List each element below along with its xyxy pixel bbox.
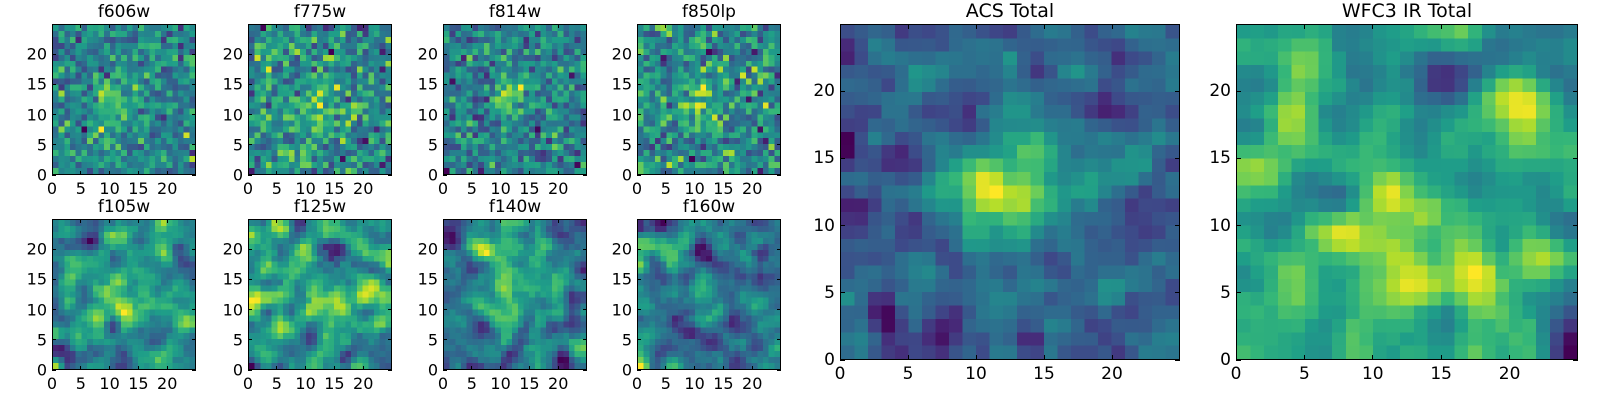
x-tick-top-f160w-2	[694, 219, 695, 223]
y-tick-f125w-3	[248, 279, 252, 280]
y-tick-right-wfc3_ir_total-3	[1573, 158, 1578, 159]
y-ticklabel-f606w-4: 20	[0, 45, 47, 64]
y-ticklabel-f850lp-0: 0	[572, 166, 632, 185]
y-tick-f850lp-4	[637, 54, 641, 55]
x-tick-f814w-4	[558, 171, 559, 175]
y-tick-f140w-1	[443, 339, 447, 340]
x-tick-top-f140w-4	[558, 219, 559, 223]
panel-f105w: f105w0510152005101520	[52, 219, 196, 370]
x-tick-f606w-3	[138, 171, 139, 175]
x-tick-f606w-2	[109, 171, 110, 175]
panel-f125w: f125w0510152005101520	[248, 219, 392, 370]
y-tick-f814w-2	[443, 114, 447, 115]
y-tick-f606w-0	[52, 175, 56, 176]
x-tick-top-f160w-0	[637, 219, 638, 223]
y-ticklabel-f105w-4: 20	[0, 240, 47, 259]
x-tick-f814w-2	[500, 171, 501, 175]
y-tick-acs_total-4	[840, 91, 845, 92]
x-tick-top-f775w-3	[334, 24, 335, 28]
x-tick-top-f140w-3	[529, 219, 530, 223]
panel-wfc3_ir_total: WFC3 IR Total0510152005101520	[1236, 24, 1578, 360]
x-tick-f606w-4	[167, 171, 168, 175]
x-ticklabel-f606w-0: 0	[47, 179, 57, 198]
x-tick-f105w-1	[80, 366, 81, 370]
x-tick-top-f775w-1	[276, 24, 277, 28]
y-ticklabel-wfc3_ir_total-3: 15	[1171, 148, 1231, 168]
y-ticklabel-f160w-1: 5	[572, 330, 632, 349]
y-ticklabel-f606w-2: 10	[0, 105, 47, 124]
x-ticklabel-f105w-0: 0	[47, 374, 57, 393]
y-tick-right-f160w-2	[777, 309, 781, 310]
x-ticklabel-f850lp-3: 15	[713, 179, 733, 198]
y-tick-f606w-4	[52, 54, 56, 55]
figure-canvas: f606w0510152005101520f775w05101520051015…	[0, 0, 1600, 400]
x-ticklabel-wfc3_ir_total-2: 10	[1362, 364, 1384, 384]
y-tick-right-f160w-3	[777, 279, 781, 280]
x-ticklabel-f775w-1: 5	[272, 179, 282, 198]
y-tick-f140w-0	[443, 370, 447, 371]
heatmap-image-f814w	[443, 24, 587, 175]
heatmap-canvas-acs_total	[841, 25, 1179, 359]
x-tick-wfc3_ir_total-2	[1372, 355, 1373, 360]
panel-title-f775w: f775w	[248, 2, 392, 22]
x-tick-f140w-2	[500, 366, 501, 370]
x-ticklabel-acs_total-2: 10	[965, 364, 987, 384]
x-ticklabel-wfc3_ir_total-0: 0	[1231, 364, 1242, 384]
x-tick-f140w-3	[529, 366, 530, 370]
y-ticklabel-f814w-2: 10	[378, 105, 438, 124]
heatmap-canvas-f125w	[249, 220, 391, 369]
heatmap-canvas-f160w	[638, 220, 780, 369]
y-ticklabel-f850lp-4: 20	[572, 45, 632, 64]
x-tick-f125w-3	[334, 366, 335, 370]
y-ticklabel-f606w-1: 5	[0, 135, 47, 154]
x-ticklabel-f160w-1: 5	[661, 374, 671, 393]
y-ticklabel-acs_total-0: 0	[775, 350, 835, 370]
x-tick-f140w-4	[558, 366, 559, 370]
x-tick-top-f606w-4	[167, 24, 168, 28]
heatmap-image-f606w	[52, 24, 196, 175]
x-tick-f160w-3	[723, 366, 724, 370]
x-tick-top-f814w-4	[558, 24, 559, 28]
x-tick-top-f140w-0	[443, 219, 444, 223]
y-tick-f160w-4	[637, 249, 641, 250]
x-tick-top-f160w-3	[723, 219, 724, 223]
y-tick-f606w-3	[52, 84, 56, 85]
y-ticklabel-f105w-0: 0	[0, 361, 47, 380]
y-ticklabel-f140w-1: 5	[378, 330, 438, 349]
x-ticklabel-f140w-2: 10	[490, 374, 510, 393]
x-tick-acs_total-1	[908, 355, 909, 360]
y-tick-right-wfc3_ir_total-0	[1573, 360, 1578, 361]
x-ticklabel-f775w-2: 10	[295, 179, 315, 198]
panel-title-f105w: f105w	[52, 197, 196, 217]
y-ticklabel-f105w-3: 15	[0, 270, 47, 289]
panel-title-f140w: f140w	[443, 197, 587, 217]
y-tick-f125w-2	[248, 309, 252, 310]
y-tick-f775w-0	[248, 175, 252, 176]
y-tick-f160w-2	[637, 309, 641, 310]
y-ticklabel-f140w-3: 15	[378, 270, 438, 289]
panel-title-f850lp: f850lp	[637, 2, 781, 22]
x-tick-f105w-2	[109, 366, 110, 370]
x-ticklabel-f814w-0: 0	[438, 179, 448, 198]
x-tick-top-f105w-0	[52, 219, 53, 223]
y-tick-right-f160w-4	[777, 249, 781, 250]
x-ticklabel-f606w-4: 20	[157, 179, 177, 198]
y-tick-right-wfc3_ir_total-1	[1573, 292, 1578, 293]
y-tick-f814w-1	[443, 144, 447, 145]
y-ticklabel-wfc3_ir_total-4: 20	[1171, 81, 1231, 101]
x-ticklabel-f125w-3: 15	[324, 374, 344, 393]
x-ticklabel-f160w-3: 15	[713, 374, 733, 393]
y-tick-f775w-2	[248, 114, 252, 115]
heatmap-canvas-wfc3_ir_total	[1237, 25, 1577, 359]
x-tick-f606w-1	[80, 171, 81, 175]
heatmap-image-f160w	[637, 219, 781, 370]
y-ticklabel-f814w-4: 20	[378, 45, 438, 64]
x-tick-f775w-1	[276, 171, 277, 175]
x-tick-top-f775w-0	[248, 24, 249, 28]
y-tick-right-f850lp-2	[777, 114, 781, 115]
x-ticklabel-wfc3_ir_total-4: 20	[1499, 364, 1521, 384]
y-tick-f105w-4	[52, 249, 56, 250]
x-tick-top-f814w-0	[443, 24, 444, 28]
x-ticklabel-acs_total-0: 0	[835, 364, 846, 384]
y-ticklabel-f775w-1: 5	[183, 135, 243, 154]
y-ticklabel-f775w-0: 0	[183, 166, 243, 185]
x-ticklabel-f125w-2: 10	[295, 374, 315, 393]
panel-title-acs_total: ACS Total	[840, 0, 1180, 22]
panel-f814w: f814w0510152005101520	[443, 24, 587, 175]
x-ticklabel-f814w-3: 15	[519, 179, 539, 198]
x-tick-top-f105w-3	[138, 219, 139, 223]
x-ticklabel-f105w-4: 20	[157, 374, 177, 393]
x-tick-f140w-1	[471, 366, 472, 370]
x-tick-top-f814w-1	[471, 24, 472, 28]
x-ticklabel-f125w-1: 5	[272, 374, 282, 393]
x-ticklabel-f814w-4: 20	[548, 179, 568, 198]
x-ticklabel-wfc3_ir_total-1: 5	[1299, 364, 1310, 384]
x-tick-top-f814w-2	[500, 24, 501, 28]
y-ticklabel-acs_total-3: 15	[775, 148, 835, 168]
x-ticklabel-f105w-2: 10	[99, 374, 119, 393]
x-ticklabel-f160w-2: 10	[684, 374, 704, 393]
x-tick-top-acs_total-4	[1112, 24, 1113, 29]
heatmap-image-acs_total	[840, 24, 1180, 360]
heatmap-image-wfc3_ir_total	[1236, 24, 1578, 360]
y-ticklabel-wfc3_ir_total-0: 0	[1171, 350, 1231, 370]
panel-f775w: f775w0510152005101520	[248, 24, 392, 175]
x-tick-f160w-2	[694, 366, 695, 370]
x-ticklabel-f140w-1: 5	[467, 374, 477, 393]
x-tick-top-acs_total-3	[1044, 24, 1045, 29]
x-tick-f775w-3	[334, 171, 335, 175]
y-tick-right-wfc3_ir_total-4	[1573, 91, 1578, 92]
y-tick-f125w-4	[248, 249, 252, 250]
x-tick-wfc3_ir_total-1	[1304, 355, 1305, 360]
x-tick-top-acs_total-2	[976, 24, 977, 29]
y-ticklabel-f125w-0: 0	[183, 361, 243, 380]
x-tick-f775w-2	[305, 171, 306, 175]
y-ticklabel-f775w-4: 20	[183, 45, 243, 64]
x-tick-top-f125w-0	[248, 219, 249, 223]
y-ticklabel-f850lp-1: 5	[572, 135, 632, 154]
x-ticklabel-f775w-3: 15	[324, 179, 344, 198]
heatmap-canvas-f140w	[444, 220, 586, 369]
x-ticklabel-acs_total-1: 5	[903, 364, 914, 384]
heatmap-canvas-f105w	[53, 220, 195, 369]
x-tick-top-f850lp-4	[752, 24, 753, 28]
x-tick-top-f850lp-3	[723, 24, 724, 28]
x-tick-f814w-3	[529, 171, 530, 175]
y-ticklabel-acs_total-4: 20	[775, 81, 835, 101]
x-tick-top-f814w-3	[529, 24, 530, 28]
x-ticklabel-f160w-0: 0	[632, 374, 642, 393]
y-tick-f105w-1	[52, 339, 56, 340]
x-tick-f850lp-4	[752, 171, 753, 175]
x-tick-top-f125w-4	[363, 219, 364, 223]
y-tick-f125w-1	[248, 339, 252, 340]
y-tick-f814w-0	[443, 175, 447, 176]
x-ticklabel-acs_total-4: 20	[1101, 364, 1123, 384]
heatmap-canvas-f606w	[53, 25, 195, 174]
y-ticklabel-f160w-3: 15	[572, 270, 632, 289]
y-tick-f814w-3	[443, 84, 447, 85]
y-tick-f105w-2	[52, 309, 56, 310]
y-ticklabel-f814w-0: 0	[378, 166, 438, 185]
y-tick-acs_total-3	[840, 158, 845, 159]
x-ticklabel-f105w-1: 5	[76, 374, 86, 393]
x-tick-top-wfc3_ir_total-3	[1441, 24, 1442, 29]
panel-title-f606w: f606w	[52, 2, 196, 22]
y-tick-f850lp-3	[637, 84, 641, 85]
x-ticklabel-f125w-0: 0	[243, 374, 253, 393]
x-tick-top-wfc3_ir_total-0	[1236, 24, 1237, 29]
y-ticklabel-f814w-1: 5	[378, 135, 438, 154]
y-tick-acs_total-2	[840, 225, 845, 226]
y-tick-f775w-3	[248, 84, 252, 85]
panel-f140w: f140w0510152005101520	[443, 219, 587, 370]
x-ticklabel-f140w-3: 15	[519, 374, 539, 393]
x-tick-f850lp-1	[665, 171, 666, 175]
y-ticklabel-f775w-3: 15	[183, 75, 243, 94]
y-ticklabel-wfc3_ir_total-1: 5	[1171, 283, 1231, 303]
y-ticklabel-f125w-2: 10	[183, 300, 243, 319]
heatmap-image-f105w	[52, 219, 196, 370]
y-tick-f606w-1	[52, 144, 56, 145]
x-tick-top-wfc3_ir_total-4	[1509, 24, 1510, 29]
y-tick-f775w-4	[248, 54, 252, 55]
x-tick-top-f105w-1	[80, 219, 81, 223]
y-tick-f105w-0	[52, 370, 56, 371]
x-ticklabel-f850lp-1: 5	[661, 179, 671, 198]
y-ticklabel-f140w-0: 0	[378, 361, 438, 380]
heatmap-image-f125w	[248, 219, 392, 370]
y-tick-acs_total-0	[840, 360, 845, 361]
y-ticklabel-f140w-2: 10	[378, 300, 438, 319]
y-ticklabel-f850lp-3: 15	[572, 75, 632, 94]
x-ticklabel-f606w-1: 5	[76, 179, 86, 198]
x-tick-f125w-1	[276, 366, 277, 370]
x-tick-top-f606w-3	[138, 24, 139, 28]
y-ticklabel-f775w-2: 10	[183, 105, 243, 124]
y-tick-right-f850lp-0	[777, 175, 781, 176]
y-ticklabel-f606w-3: 15	[0, 75, 47, 94]
x-ticklabel-f125w-4: 20	[353, 374, 373, 393]
y-tick-f850lp-0	[637, 175, 641, 176]
x-ticklabel-f775w-0: 0	[243, 179, 253, 198]
panel-title-f160w: f160w	[637, 197, 781, 217]
x-tick-top-f140w-1	[471, 219, 472, 223]
x-tick-top-wfc3_ir_total-1	[1304, 24, 1305, 29]
y-ticklabel-f850lp-2: 10	[572, 105, 632, 124]
x-ticklabel-f105w-3: 15	[128, 374, 148, 393]
x-tick-acs_total-4	[1112, 355, 1113, 360]
x-tick-top-acs_total-1	[908, 24, 909, 29]
panel-acs_total: ACS Total0510152005101520	[840, 24, 1180, 360]
x-tick-wfc3_ir_total-4	[1509, 355, 1510, 360]
y-ticklabel-acs_total-1: 5	[775, 283, 835, 303]
y-tick-right-wfc3_ir_total-2	[1573, 225, 1578, 226]
y-ticklabel-f814w-3: 15	[378, 75, 438, 94]
x-tick-top-f125w-2	[305, 219, 306, 223]
x-tick-top-acs_total-0	[840, 24, 841, 29]
x-ticklabel-f140w-0: 0	[438, 374, 448, 393]
heatmap-canvas-f814w	[444, 25, 586, 174]
y-tick-wfc3_ir_total-4	[1236, 91, 1241, 92]
heatmap-image-f775w	[248, 24, 392, 175]
x-tick-top-f850lp-2	[694, 24, 695, 28]
y-tick-f140w-4	[443, 249, 447, 250]
heatmap-image-f850lp	[637, 24, 781, 175]
x-tick-top-f125w-3	[334, 219, 335, 223]
y-ticklabel-acs_total-2: 10	[775, 216, 835, 236]
x-tick-f125w-2	[305, 366, 306, 370]
y-tick-f140w-3	[443, 279, 447, 280]
x-ticklabel-f814w-2: 10	[490, 179, 510, 198]
y-tick-right-f160w-1	[777, 339, 781, 340]
y-ticklabel-f125w-1: 5	[183, 330, 243, 349]
heatmap-image-f140w	[443, 219, 587, 370]
x-tick-top-wfc3_ir_total-2	[1372, 24, 1373, 29]
y-tick-f850lp-1	[637, 144, 641, 145]
x-tick-f775w-4	[363, 171, 364, 175]
panel-title-wfc3_ir_total: WFC3 IR Total	[1236, 0, 1578, 22]
y-tick-wfc3_ir_total-0	[1236, 360, 1241, 361]
panel-f850lp: f850lp0510152005101520	[637, 24, 781, 175]
x-ticklabel-f140w-4: 20	[548, 374, 568, 393]
heatmap-canvas-f850lp	[638, 25, 780, 174]
x-ticklabel-f850lp-0: 0	[632, 179, 642, 198]
y-tick-wfc3_ir_total-3	[1236, 158, 1241, 159]
y-tick-f850lp-2	[637, 114, 641, 115]
y-tick-wfc3_ir_total-1	[1236, 292, 1241, 293]
y-ticklabel-f160w-2: 10	[572, 300, 632, 319]
heatmap-canvas-f775w	[249, 25, 391, 174]
y-tick-f125w-0	[248, 370, 252, 371]
y-tick-f160w-0	[637, 370, 641, 371]
x-tick-f125w-4	[363, 366, 364, 370]
x-tick-top-f850lp-1	[665, 24, 666, 28]
x-tick-f105w-3	[138, 366, 139, 370]
y-ticklabel-wfc3_ir_total-2: 10	[1171, 216, 1231, 236]
y-ticklabel-f140w-4: 20	[378, 240, 438, 259]
x-tick-top-f606w-1	[80, 24, 81, 28]
x-ticklabel-wfc3_ir_total-3: 15	[1430, 364, 1452, 384]
panel-f160w: f160w0510152005101520	[637, 219, 781, 370]
x-tick-acs_total-2	[976, 355, 977, 360]
x-tick-top-f125w-1	[276, 219, 277, 223]
x-ticklabel-f606w-2: 10	[99, 179, 119, 198]
y-tick-f140w-2	[443, 309, 447, 310]
y-ticklabel-f125w-3: 15	[183, 270, 243, 289]
y-tick-f160w-1	[637, 339, 641, 340]
x-tick-top-f140w-2	[500, 219, 501, 223]
x-tick-f160w-1	[665, 366, 666, 370]
y-ticklabel-f606w-0: 0	[0, 166, 47, 185]
x-ticklabel-f814w-1: 5	[467, 179, 477, 198]
panel-f606w: f606w0510152005101520	[52, 24, 196, 175]
y-ticklabel-f105w-1: 5	[0, 330, 47, 349]
y-ticklabel-f160w-4: 20	[572, 240, 632, 259]
y-tick-right-f850lp-4	[777, 54, 781, 55]
x-tick-f850lp-2	[694, 171, 695, 175]
y-tick-f105w-3	[52, 279, 56, 280]
x-tick-top-f775w-2	[305, 24, 306, 28]
y-tick-f775w-1	[248, 144, 252, 145]
y-ticklabel-f125w-4: 20	[183, 240, 243, 259]
panel-title-f125w: f125w	[248, 197, 392, 217]
x-tick-f160w-4	[752, 366, 753, 370]
x-tick-acs_total-3	[1044, 355, 1045, 360]
y-tick-wfc3_ir_total-2	[1236, 225, 1241, 226]
x-tick-top-f160w-4	[752, 219, 753, 223]
x-tick-top-f850lp-0	[637, 24, 638, 28]
x-tick-top-f160w-1	[665, 219, 666, 223]
x-tick-top-f775w-4	[363, 24, 364, 28]
y-ticklabel-f160w-0: 0	[572, 361, 632, 380]
x-tick-top-f105w-2	[109, 219, 110, 223]
x-tick-top-f606w-2	[109, 24, 110, 28]
x-ticklabel-f850lp-2: 10	[684, 179, 704, 198]
y-tick-f814w-4	[443, 54, 447, 55]
y-ticklabel-f105w-2: 10	[0, 300, 47, 319]
y-tick-acs_total-1	[840, 292, 845, 293]
x-tick-top-f105w-4	[167, 219, 168, 223]
panel-title-f814w: f814w	[443, 2, 587, 22]
x-tick-wfc3_ir_total-3	[1441, 355, 1442, 360]
x-ticklabel-f775w-4: 20	[353, 179, 373, 198]
x-ticklabel-f160w-4: 20	[742, 374, 762, 393]
x-ticklabel-acs_total-3: 15	[1033, 364, 1055, 384]
y-tick-f160w-3	[637, 279, 641, 280]
y-tick-f606w-2	[52, 114, 56, 115]
y-tick-right-f850lp-1	[777, 144, 781, 145]
x-tick-f814w-1	[471, 171, 472, 175]
x-tick-f105w-4	[167, 366, 168, 370]
x-ticklabel-f606w-3: 15	[128, 179, 148, 198]
x-tick-top-f606w-0	[52, 24, 53, 28]
x-ticklabel-f850lp-4: 20	[742, 179, 762, 198]
x-tick-f850lp-3	[723, 171, 724, 175]
